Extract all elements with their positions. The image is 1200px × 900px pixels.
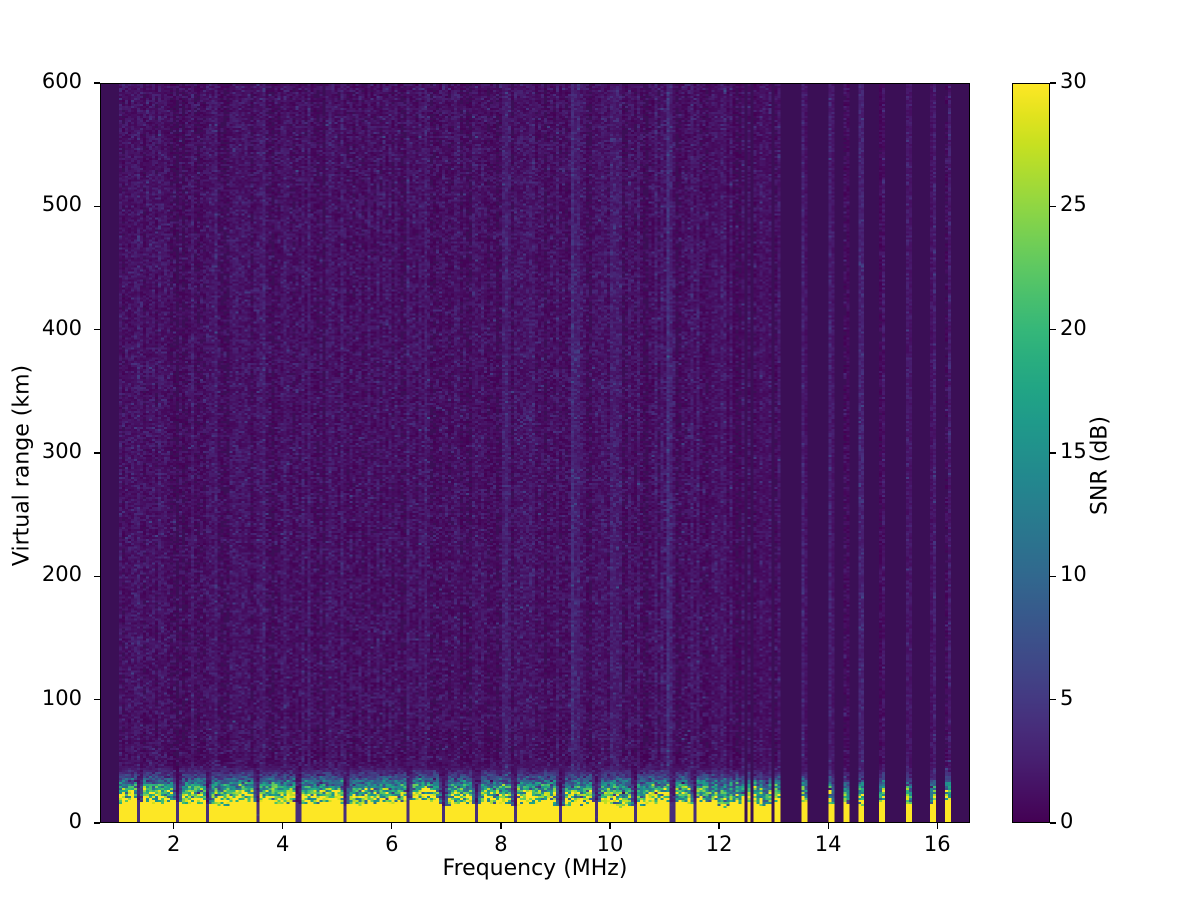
y-axis-label: Virtual range (km) bbox=[10, 96, 35, 836]
ionogram-axes[interactable] bbox=[100, 83, 970, 823]
x-tick-label: 16 bbox=[924, 832, 951, 856]
y-tick-mark bbox=[94, 699, 100, 700]
colorbar-tick-label: 15 bbox=[1060, 439, 1087, 463]
y-tick-mark bbox=[94, 329, 100, 330]
x-tick-mark bbox=[282, 823, 283, 829]
x-tick-mark bbox=[391, 823, 392, 829]
x-tick-label: 8 bbox=[494, 832, 507, 856]
x-tick-label: 12 bbox=[706, 832, 733, 856]
colorbar-tick-mark bbox=[1050, 206, 1056, 207]
y-tick-mark bbox=[94, 452, 100, 453]
x-tick-mark bbox=[937, 823, 938, 829]
y-tick-label: 0 bbox=[69, 809, 82, 833]
colorbar-tick-mark bbox=[1050, 699, 1056, 700]
x-tick-mark bbox=[609, 823, 610, 829]
x-tick-label: 4 bbox=[276, 832, 289, 856]
y-tick-label: 200 bbox=[42, 562, 82, 586]
y-tick-mark bbox=[94, 82, 100, 83]
y-tick-label: 500 bbox=[42, 192, 82, 216]
x-tick-mark bbox=[173, 823, 174, 829]
colorbar-tick-label: 5 bbox=[1060, 686, 1073, 710]
colorbar-tick-mark bbox=[1050, 822, 1056, 823]
ionogram-figure: IRF Kiruna Ionosonde KI167 2025-10-08 04… bbox=[0, 0, 1200, 900]
colorbar[interactable] bbox=[1012, 83, 1050, 823]
colorbar-tick-mark bbox=[1050, 452, 1056, 453]
x-axis-label: Frequency (MHz) bbox=[100, 856, 970, 881]
colorbar-tick-mark bbox=[1050, 329, 1056, 330]
colorbar-tick-label: 30 bbox=[1060, 69, 1087, 93]
colorbar-label: SNR (dB) bbox=[1088, 96, 1113, 836]
y-tick-label: 400 bbox=[42, 316, 82, 340]
y-tick-label: 600 bbox=[42, 69, 82, 93]
colorbar-tick-label: 0 bbox=[1060, 809, 1073, 833]
x-tick-label: 10 bbox=[597, 832, 624, 856]
colorbar-tick-mark bbox=[1050, 576, 1056, 577]
x-tick-mark bbox=[828, 823, 829, 829]
colorbar-tick-label: 10 bbox=[1060, 562, 1087, 586]
y-tick-label: 300 bbox=[42, 439, 82, 463]
x-tick-mark bbox=[718, 823, 719, 829]
colorbar-gradient bbox=[1013, 84, 1049, 822]
colorbar-tick-mark bbox=[1050, 82, 1056, 83]
x-tick-mark bbox=[500, 823, 501, 829]
ionogram-heatmap[interactable] bbox=[101, 84, 969, 822]
x-tick-label: 6 bbox=[385, 832, 398, 856]
y-tick-mark bbox=[94, 576, 100, 577]
y-tick-mark bbox=[94, 206, 100, 207]
x-tick-label: 2 bbox=[167, 832, 180, 856]
colorbar-tick-label: 20 bbox=[1060, 316, 1087, 340]
y-tick-label: 100 bbox=[42, 686, 82, 710]
colorbar-tick-label: 25 bbox=[1060, 192, 1087, 216]
x-tick-label: 14 bbox=[815, 832, 842, 856]
y-tick-mark bbox=[94, 822, 100, 823]
